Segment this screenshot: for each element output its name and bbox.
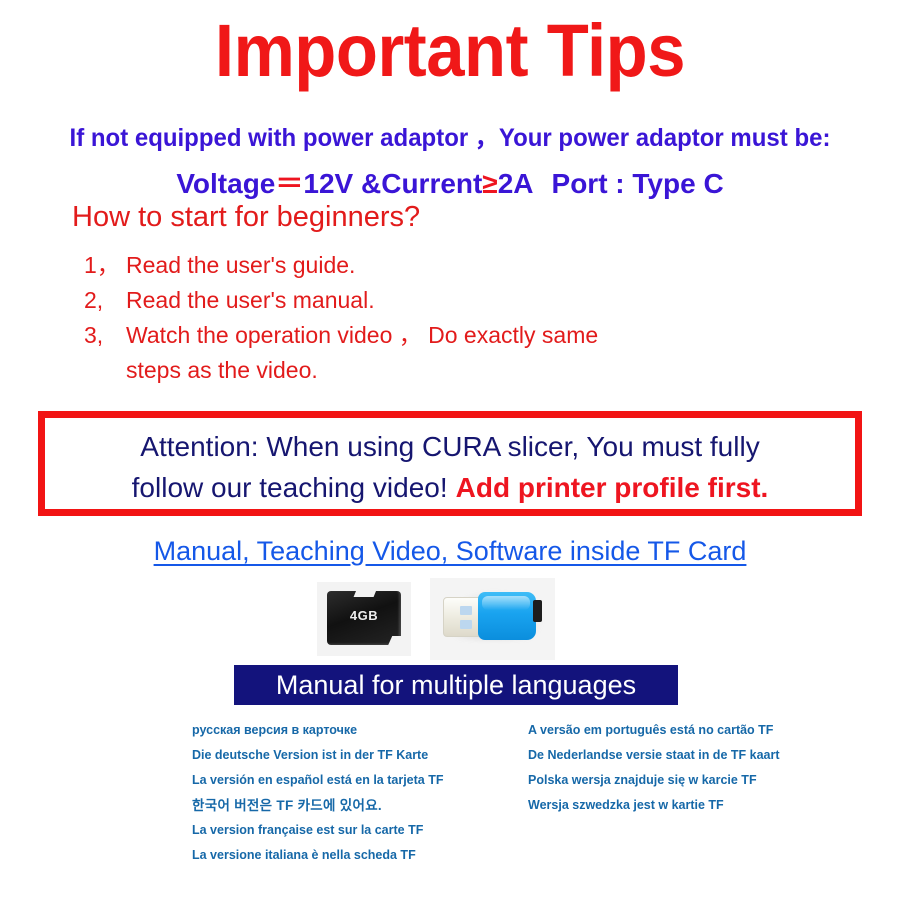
- microsd-card-notch: [354, 590, 377, 597]
- list-item: 1，Read the user's guide.: [84, 248, 598, 283]
- list-item: Die deutsche Version ist in der TF Karte: [192, 743, 443, 768]
- languages-column-left: русская версия в карточке Die deutsche V…: [192, 718, 443, 868]
- list-item: 한국어 버전은 TF 카드에 있어요.: [192, 793, 443, 818]
- device-images-row: 4GB: [0, 578, 900, 660]
- list-item: La versione italiana è nella scheda TF: [192, 843, 443, 868]
- list-item: 2,Read the user's manual.: [84, 283, 598, 318]
- list-item: A versão em português está no cartão TF: [528, 718, 780, 743]
- usb-pin: [460, 620, 472, 629]
- tf-card-contents-link[interactable]: Manual, Teaching Video, Software inside …: [0, 536, 900, 567]
- port-spec: Port : Type C: [552, 168, 724, 199]
- microsd-card-image: 4GB: [317, 582, 411, 656]
- current-value: 2A: [498, 168, 534, 199]
- step-number: 2,: [84, 283, 126, 318]
- languages-column-right: A versão em português está no cartão TF …: [528, 718, 780, 818]
- step-text: Watch the operation video ， Do exactly s…: [126, 322, 598, 348]
- attention-line-2-emphasis: Add printer profile first.: [456, 472, 769, 503]
- voltage-label: Voltage: [176, 168, 275, 199]
- adaptor-requirement-line: If not equipped with power adaptor ，Your…: [18, 118, 882, 154]
- usb-reader-tail: [533, 600, 542, 622]
- languages-banner: Manual for multiple languages: [234, 665, 678, 705]
- list-item: 3,Watch the operation video ， Do exactly…: [84, 318, 598, 388]
- languages-banner-label: Manual for multiple languages: [276, 670, 636, 701]
- page-title: Important Tips: [32, 14, 869, 88]
- microsd-card-corner-cut: [388, 636, 404, 646]
- attention-callout-box: Attention: When using CURA slicer, You m…: [38, 411, 862, 516]
- usb-card-reader-image: [430, 578, 555, 660]
- step-text: Read the user's guide.: [126, 252, 355, 278]
- list-item: La version française est sur la carte TF: [192, 818, 443, 843]
- step-text-continuation: steps as the video.: [84, 353, 598, 388]
- beginners-heading: How to start for beginners?: [72, 201, 420, 234]
- beginners-steps-list: 1，Read the user's guide. 2,Read the user…: [84, 248, 598, 388]
- attention-line-2: follow our teaching video!Add printer pr…: [45, 472, 855, 504]
- microsd-capacity-label: 4GB: [327, 608, 401, 623]
- attention-line-1: Attention: When using CURA slicer, You m…: [45, 431, 855, 463]
- important-tips-infographic: Important Tips If not equipped with powe…: [0, 0, 900, 900]
- tf-card-contents-link-label[interactable]: Manual, Teaching Video, Software inside …: [154, 536, 747, 566]
- list-item: Wersja szwedzka jest w kartie TF: [528, 793, 780, 818]
- step-text: Read the user's manual.: [126, 287, 375, 313]
- languages-columns: русская версия в карточке Die deutsche V…: [0, 718, 900, 878]
- list-item: Polska wersja znajduje się w karcie TF: [528, 768, 780, 793]
- greater-equal-symbol: ≥: [482, 168, 497, 199]
- list-item: De Nederlandse versie staat in de TF kaa…: [528, 743, 780, 768]
- list-item: La versión en español está en la tarjeta…: [192, 768, 443, 793]
- adaptor-spec-line: Voltage＝12V &Current≥2APort : Type C: [0, 162, 900, 202]
- list-item: русская версия в карточке: [192, 718, 443, 743]
- step-number: 3,: [84, 318, 126, 353]
- step-number: 1，: [84, 248, 126, 283]
- usb-reader-highlight: [482, 596, 530, 610]
- usb-pin: [460, 606, 472, 615]
- equals-symbol: ＝: [275, 168, 303, 199]
- voltage-value-and-current-label: 12V &Current: [303, 168, 482, 199]
- attention-line-2-dark: follow our teaching video!: [132, 472, 448, 503]
- microsd-card-icon: 4GB: [327, 591, 401, 645]
